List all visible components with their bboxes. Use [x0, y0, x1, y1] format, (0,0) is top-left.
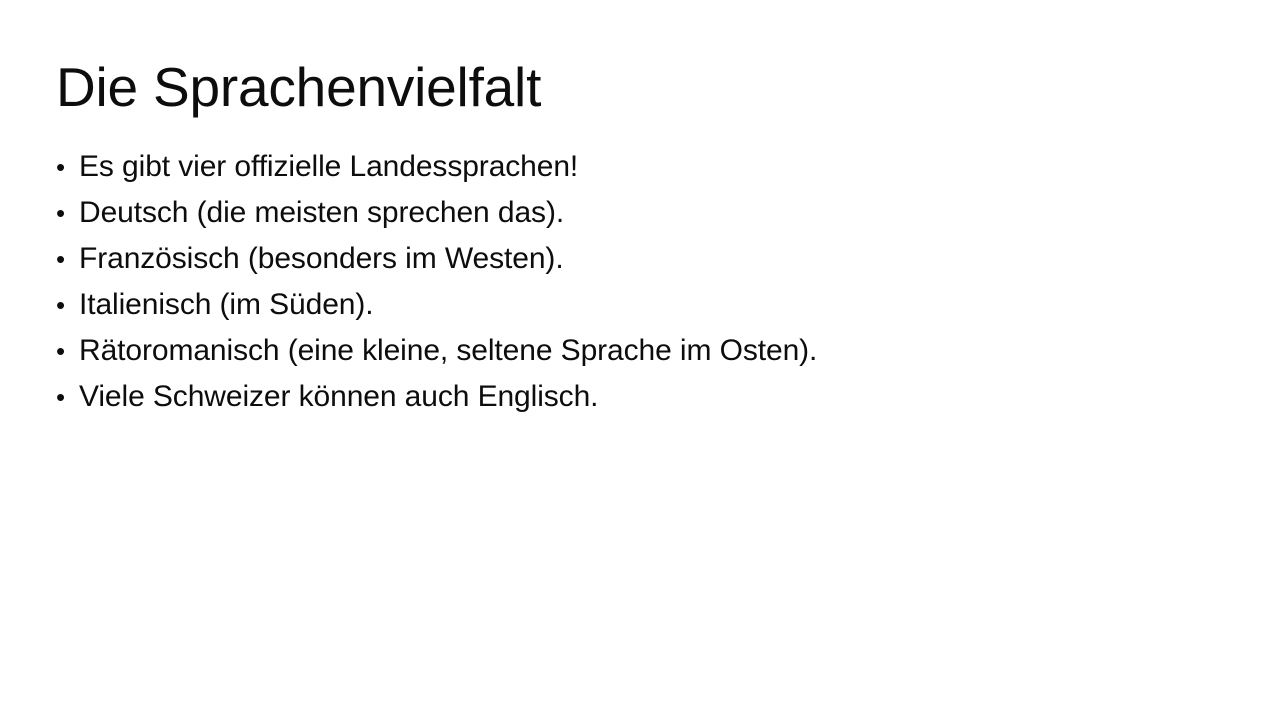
bullet-point-icon: • [56, 190, 79, 236]
bullet-point-icon: • [56, 236, 79, 282]
presentation-slide: Die Sprachenvielfalt • Es gibt vier offi… [0, 0, 1280, 720]
bullet-point-icon: • [56, 282, 79, 328]
list-item-label: Viele Schweizer können auch Englisch. [79, 374, 598, 420]
list-item-label: Italienisch (im Süden). [79, 282, 374, 328]
list-item: • Französisch (besonders im Westen). [56, 236, 1196, 282]
bullet-point-icon: • [56, 328, 79, 374]
list-item: • Es gibt vier offizielle Landessprachen… [56, 144, 1196, 190]
bullet-point-icon: • [56, 374, 79, 420]
list-item-label: Französisch (besonders im Westen). [79, 236, 564, 282]
list-item: • Italienisch (im Süden). [56, 282, 1196, 328]
list-item: • Viele Schweizer können auch Englisch. [56, 374, 1196, 420]
list-item-label: Es gibt vier offizielle Landessprachen! [79, 144, 578, 190]
list-item-label: Rätoromanisch (eine kleine, seltene Spra… [79, 328, 817, 374]
list-item: • Rätoromanisch (eine kleine, seltene Sp… [56, 328, 1196, 374]
page-title: Die Sprachenvielfalt [56, 52, 541, 122]
bullet-point-icon: • [56, 144, 79, 190]
bullet-list: • Es gibt vier offizielle Landessprachen… [56, 144, 1196, 420]
list-item: • Deutsch (die meisten sprechen das). [56, 190, 1196, 236]
list-item-label: Deutsch (die meisten sprechen das). [79, 190, 564, 236]
